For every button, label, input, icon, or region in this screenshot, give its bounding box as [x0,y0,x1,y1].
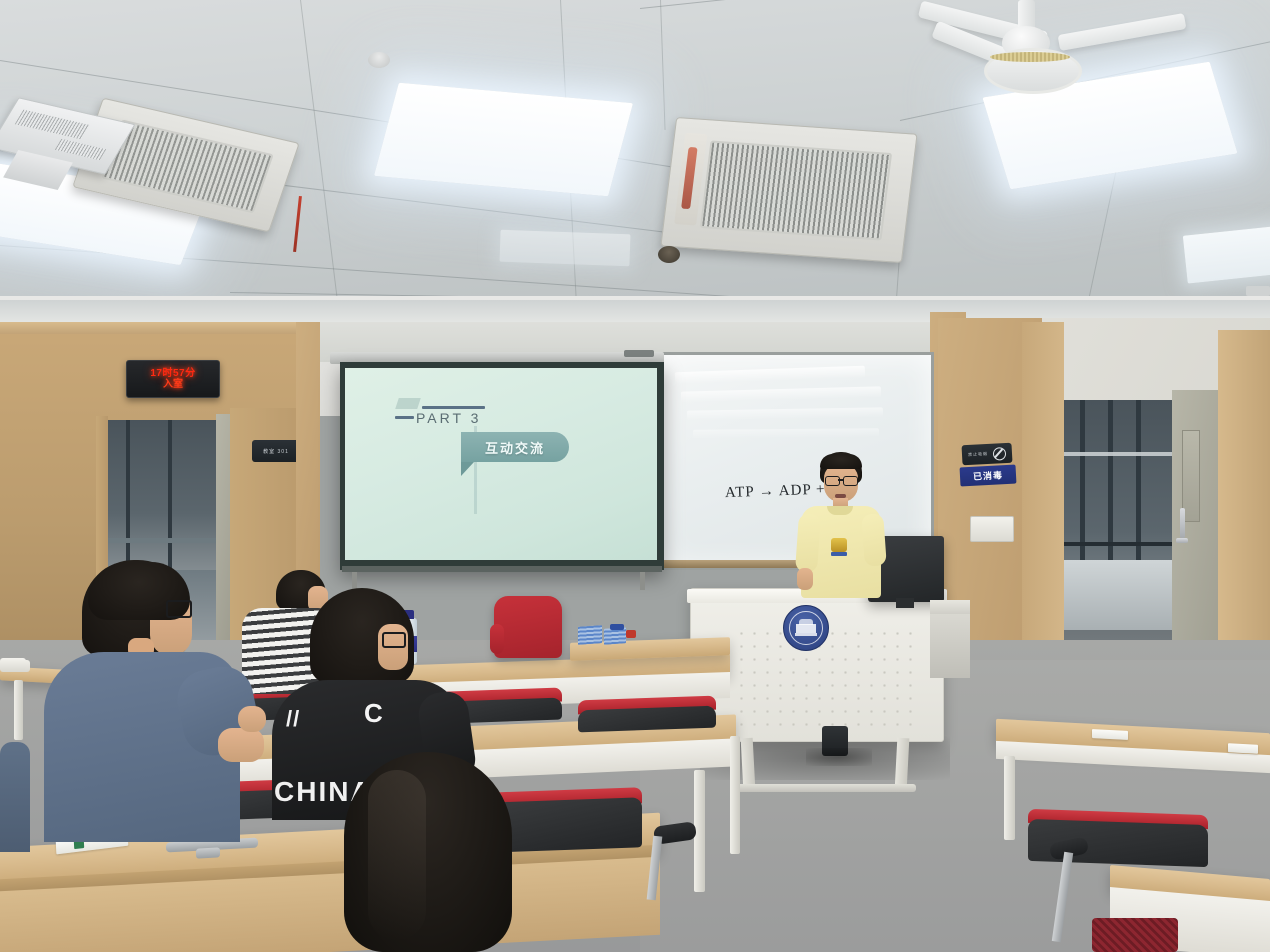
led-panel-light [499,230,630,267]
led-time-display: 17时57分 入室 [126,360,220,398]
slide-banner-notch [461,462,474,476]
classroom-photo: 教室 301 17时57分 入室 ATP → ADP + Pi PART 3 互… [0,0,1270,952]
student-long-hair [322,752,542,952]
disinfected-sign: 已消毒 [960,465,1017,487]
desk-item [610,624,624,630]
led-status-text: 入室 [163,379,183,390]
desk-item [1092,729,1128,740]
side-table-body [930,614,970,678]
chair-arm [490,624,504,654]
slide-rule-left [395,416,414,419]
light-switch-plate[interactable] [970,516,1014,542]
blue-handout-papers [578,625,602,645]
presenter-glasses [843,476,858,486]
led-panel-light [374,83,633,197]
desk-marker [626,630,636,638]
ceiling-fan [940,0,1170,110]
student-glasses [166,600,192,618]
university-crest [783,605,829,651]
ceiling-cassette-air-conditioner [660,117,917,263]
smoke-detector [368,52,390,68]
student-hand [238,706,266,732]
shirt-graphic [831,538,847,552]
student-glasses [382,632,406,648]
hair-highlight [368,770,426,940]
chair-seat[interactable] [1092,918,1178,952]
screen-bracket [624,350,654,357]
chair[interactable] [494,596,562,658]
presenter-arm [861,513,887,566]
desk-leg [1004,756,1015,840]
projection-screen: PART 3 互动交流 [345,368,657,560]
slide-rule-top [422,406,485,409]
disinfected-text: 已消毒 [973,468,1004,483]
classroom-number-text: 教室 301 [263,448,289,455]
presenter-hand [797,568,813,590]
led-time-text: 17时57分 [150,368,195,379]
desk-item [1228,743,1258,754]
side-table [930,600,970,614]
desk-phone[interactable] [0,658,26,670]
shirt-print-partial: // [286,706,300,732]
student-blue-shirt [30,560,270,850]
slide-part-label: PART 3 [416,410,481,426]
presenting-student [795,452,905,602]
ceiling-vent [1246,286,1270,296]
desk-leg [14,680,23,740]
desk-leg [730,736,740,854]
student-hand [218,728,264,762]
podium-foot-bar [736,784,916,792]
no-smoking-sign: 禁止吸烟 [962,443,1013,466]
slide-decor-tab [395,398,421,409]
slide-banner-text: 互动交流 [485,438,545,457]
ceiling-speaker [658,246,680,263]
classroom-number-sign: 教室 301 [252,440,300,462]
presenter-shadow [806,748,872,766]
slide-banner: 互动交流 [461,432,569,462]
shirt-print-logo: C [364,698,383,729]
wall-trim [0,322,318,334]
presenter-arm [795,513,821,572]
student-partial [0,742,30,852]
no-smoking-icon [993,447,1007,461]
no-smoking-text: 禁止吸烟 [968,451,988,458]
presenter-glasses [825,476,840,486]
screen-bottom-bar [342,566,662,572]
projection-screen-frame: PART 3 互动交流 [340,362,664,570]
